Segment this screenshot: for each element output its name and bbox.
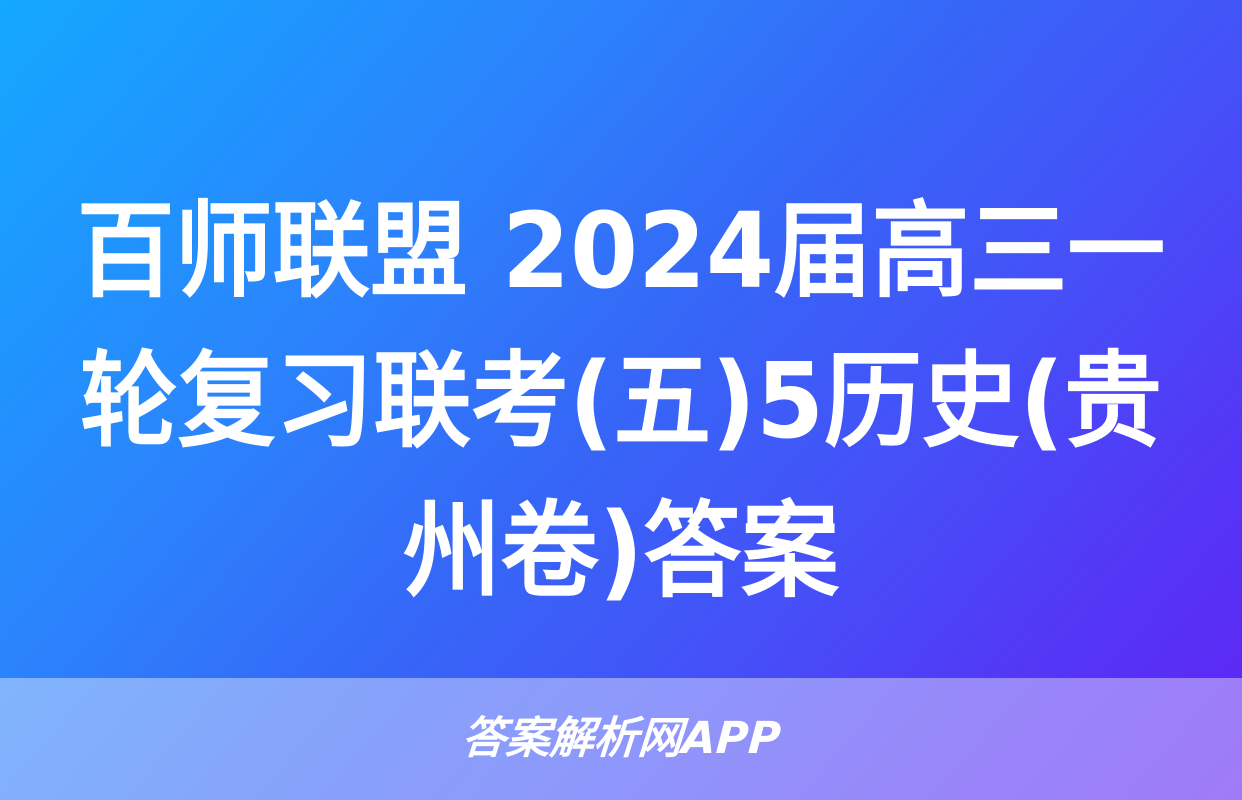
watermark-label: 答案解析网APP [460, 717, 782, 761]
poster-title-block: 百师联盟 2024届高三一轮复习联考(五)5历史(贵州卷)答案 [0, 176, 1242, 626]
page-title: 百师联盟 2024届高三一轮复习联考(五)5历史(贵州卷)答案 [75, 176, 1167, 626]
poster-canvas: 百师联盟 2024届高三一轮复习联考(五)5历史(贵州卷)答案 答案解析网APP [0, 0, 1242, 800]
watermark-band: 答案解析网APP [0, 678, 1242, 800]
